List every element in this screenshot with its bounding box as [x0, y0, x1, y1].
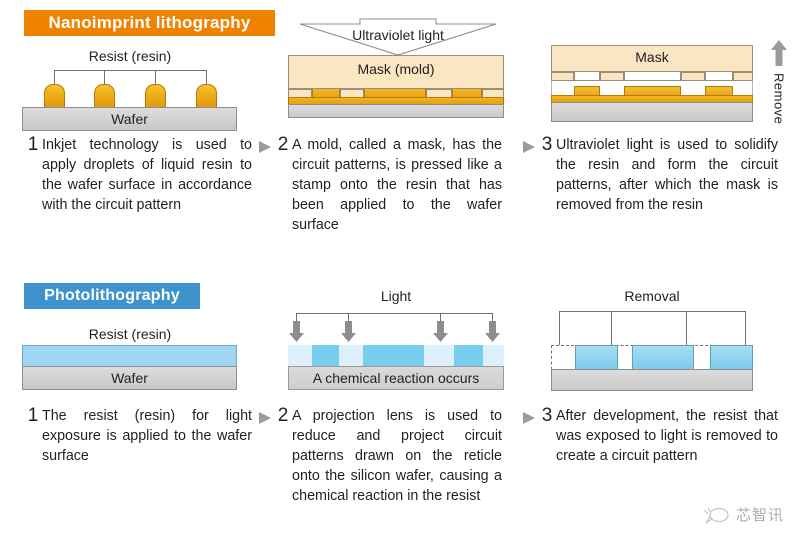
photo-fig3-wafer [551, 369, 753, 391]
photo-fig1-resist-label: Resist (resin) [24, 326, 236, 342]
wafer-label: Wafer [23, 111, 236, 127]
mask-lip [600, 72, 624, 81]
step-text: Inkjet technology is used to apply dropl… [42, 135, 252, 215]
section-title-nanoimprint: Nanoimprint lithography [24, 10, 275, 36]
photo-fig3-bracket-l4 [745, 311, 746, 345]
photo-step-3: 3 After development, the resist that was… [522, 406, 778, 466]
photo-fig3-removal-label: Removal [551, 288, 753, 304]
watermark-text: 芯智讯 [736, 504, 784, 525]
step-text: After development, the resist that was e… [556, 406, 778, 466]
photo-step-1: 1 The resist (resin) for light exposure … [24, 406, 252, 466]
photo-fig3-bracket-top [559, 311, 745, 312]
uv-light-arrow: Ultraviolet light [300, 18, 496, 56]
mask-lip [681, 72, 705, 81]
mask-notch [574, 72, 600, 81]
nano-fig2-wafer [288, 104, 504, 118]
light-arrow-icon [484, 321, 501, 348]
nano-fig3-mask: Mask [551, 45, 753, 72]
photo-fig2-wafer: A chemical reaction occurs [288, 366, 504, 390]
photo-fig2-light-label: Light [288, 288, 504, 304]
step-number: 2 [274, 406, 292, 426]
photo-fig2-exposed-region [312, 345, 339, 367]
nano-fig1-bracket-l4 [206, 70, 207, 84]
mask-lip [733, 72, 753, 81]
photo-fig2-bracket-top [296, 313, 492, 314]
photo-fig3-bracket-l1 [559, 311, 560, 345]
photo-fig2-exposed-region [454, 345, 483, 367]
resin-droplet [196, 84, 217, 108]
resin-droplet [145, 84, 166, 108]
speech-bubble-icon [702, 505, 730, 525]
nano-fig1-bracket-l1 [54, 70, 55, 84]
resin-droplet [44, 84, 65, 108]
remove-label: Remove [772, 73, 787, 124]
step-text: Ultraviolet light is used to solidify th… [556, 135, 778, 215]
step-text: The resist (resin) for light exposure is… [42, 406, 252, 466]
nano-fig3-wafer [551, 102, 753, 122]
chemical-reaction-label: A chemical reaction occurs [289, 370, 503, 386]
resin-droplet [94, 84, 115, 108]
step-number: 1 [24, 406, 42, 426]
nano-fig1-resist-label: Resist (resin) [24, 48, 236, 64]
photo-fig3-bracket-l3 [686, 311, 687, 345]
step-arrow-icon [258, 411, 274, 430]
mask-lip [551, 72, 574, 81]
light-arrow-icon [340, 321, 357, 348]
mask-label: Mask (mold) [289, 61, 503, 77]
nano-fig1-bracket-top [54, 70, 206, 71]
photo-step-2: 2 A projection lens is used to reduce an… [258, 406, 502, 506]
diagram-canvas: Nanoimprint lithography Resist (resin) W… [0, 0, 800, 539]
step-arrow-icon [522, 411, 538, 430]
nano-step-3: 3 Ultraviolet light is used to solidify … [522, 135, 778, 215]
mask-label: Mask [552, 49, 752, 65]
photo-fig3-bracket-l2 [611, 311, 612, 345]
step-number: 3 [538, 135, 556, 155]
wafer-label: Wafer [23, 370, 236, 386]
remaining-resist-block [575, 345, 618, 370]
step-arrow-icon [522, 140, 538, 159]
nano-fig1-bracket-l2 [104, 70, 105, 84]
nano-fig1-wafer: Wafer [22, 107, 237, 131]
photo-fig1-resist-layer [22, 345, 237, 367]
mask-notch [705, 72, 733, 81]
step-text: A mold, called a mask, has the circuit p… [292, 135, 502, 235]
uv-light-label: Ultraviolet light [300, 27, 496, 43]
mask-notch [624, 72, 681, 81]
remaining-resist-block [710, 345, 753, 370]
nano-fig2-mask: Mask (mold) [288, 55, 504, 89]
step-number: 2 [274, 135, 292, 155]
photo-fig2-exposed-region [363, 345, 424, 367]
nano-step-1: 1 Inkjet technology is used to apply dro… [24, 135, 252, 215]
watermark: 芯智讯 [702, 504, 784, 525]
up-arrow-icon [770, 40, 788, 66]
remaining-resist-block [632, 345, 694, 370]
nano-fig1-bracket-l3 [155, 70, 156, 84]
light-arrow-icon [432, 321, 449, 348]
step-text: A projection lens is used to reduce and … [292, 406, 502, 506]
light-arrow-icon [288, 321, 305, 348]
nano-step-2: 2 A mold, called a mask, has the circuit… [258, 135, 502, 235]
photo-fig1-wafer: Wafer [22, 366, 237, 390]
remove-indicator: Remove [762, 40, 796, 124]
section-title-photolithography: Photolithography [24, 283, 200, 309]
step-number: 3 [538, 406, 556, 426]
step-arrow-icon [258, 140, 274, 159]
step-number: 1 [24, 135, 42, 155]
